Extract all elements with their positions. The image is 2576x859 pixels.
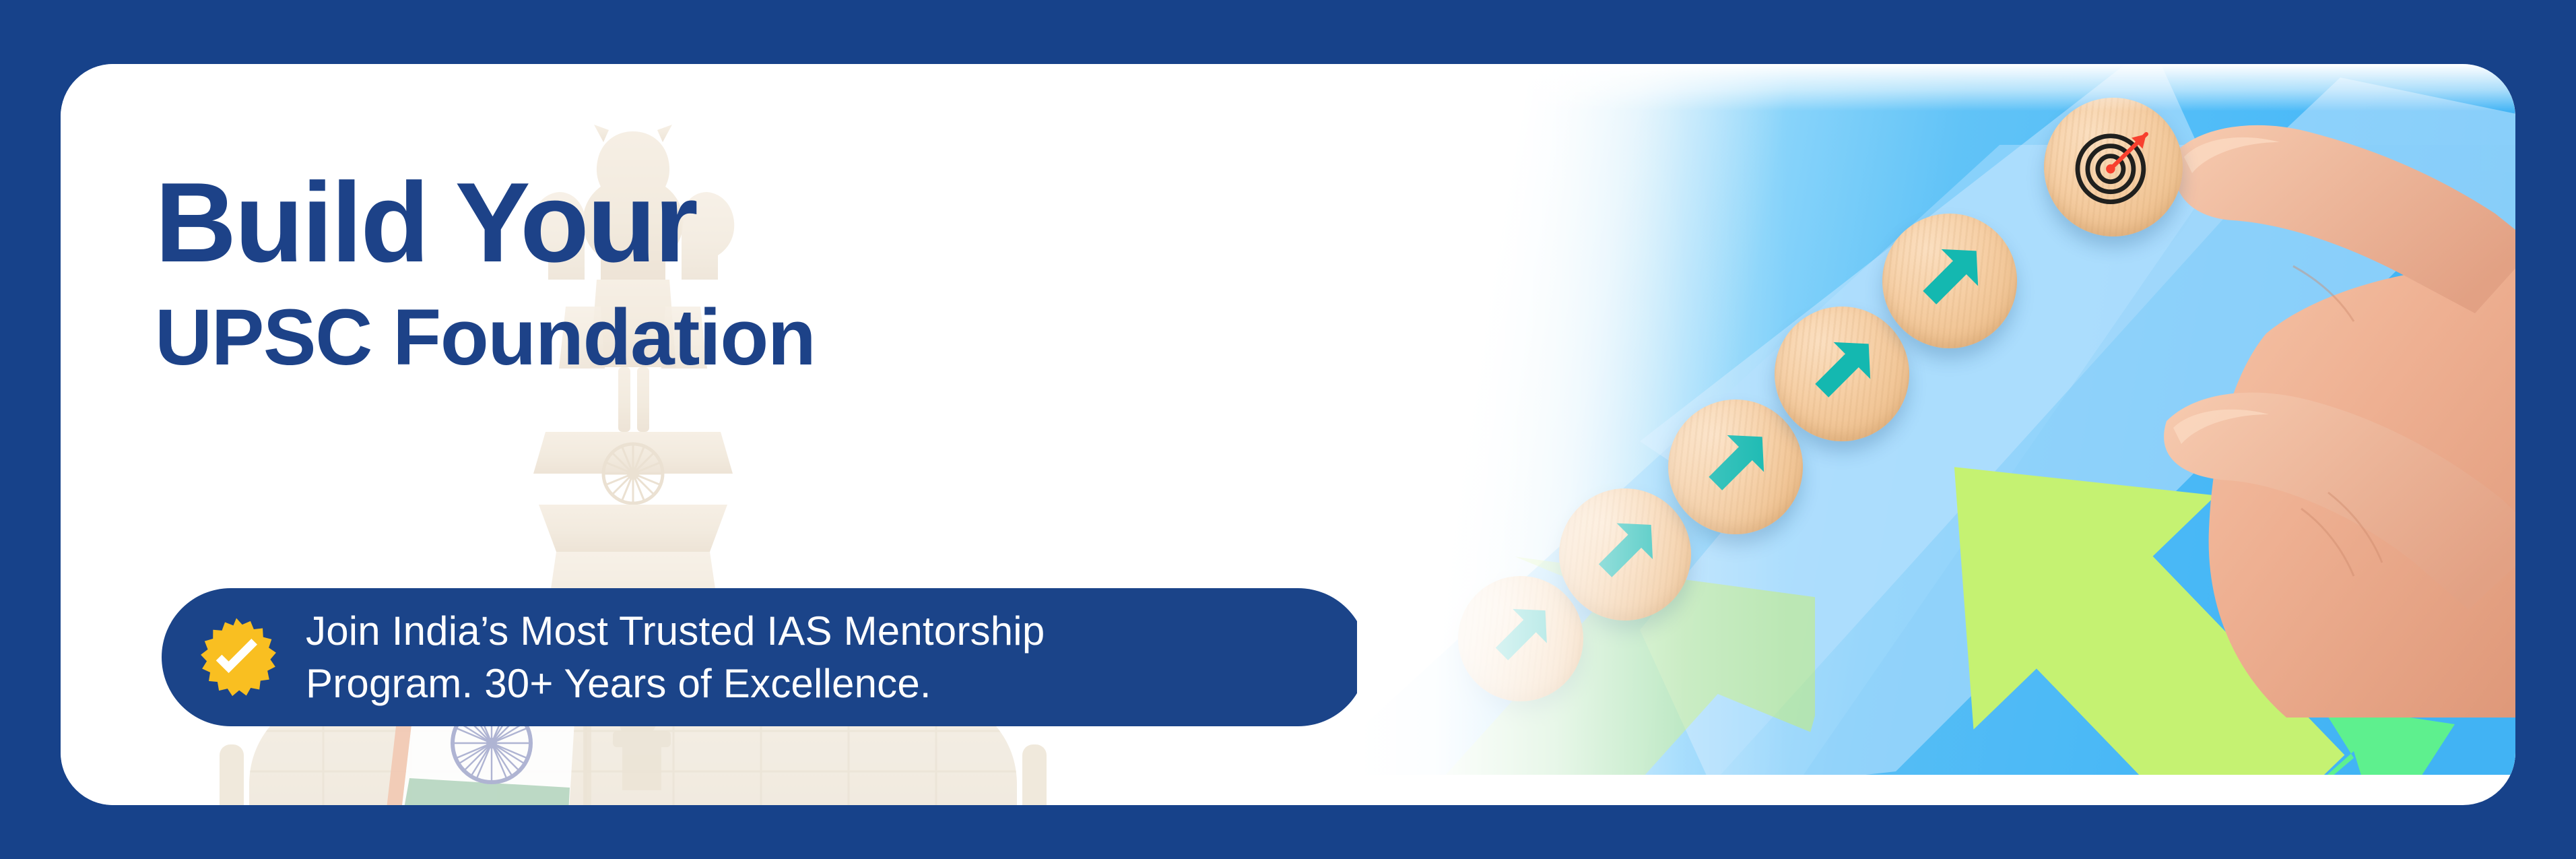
headline-line-2: UPSC Foundation xyxy=(155,296,1333,380)
verified-seal-check-icon xyxy=(195,616,277,699)
subtitle-pill: Join India’s Most Trusted IAS Mentorship… xyxy=(162,588,1367,726)
disc-arrow-2 xyxy=(1559,488,1691,621)
disc-arrow-1 xyxy=(1458,576,1583,701)
arrow-up-right-icon xyxy=(1694,425,1777,509)
subtitle-text: Join India’s Most Trusted IAS Mentorship… xyxy=(306,605,1045,710)
headline-block: Build Your UPSC Foundation xyxy=(155,165,1333,380)
headline-line-1: Build Your xyxy=(155,165,1333,280)
arrow-up-right-icon xyxy=(1908,239,1991,323)
arrow-up-right-icon xyxy=(1584,513,1666,596)
banner-card: Build Your UPSC Foundation Join India’s … xyxy=(61,64,2515,805)
disc-arrow-5 xyxy=(1882,214,2017,348)
copy-panel: Build Your UPSC Foundation Join India’s … xyxy=(61,64,1448,805)
disc-arrow-3 xyxy=(1668,400,1803,534)
arrow-up-right-icon xyxy=(1482,600,1559,677)
banner-frame: Build Your UPSC Foundation Join India’s … xyxy=(0,0,2576,859)
disc-target xyxy=(2044,98,2183,236)
bullseye-target-with-dart-icon xyxy=(2068,121,2159,213)
hero-photo xyxy=(1357,64,2515,775)
disc-arrow-4 xyxy=(1775,307,1909,441)
arrow-up-right-icon xyxy=(1800,332,1884,416)
